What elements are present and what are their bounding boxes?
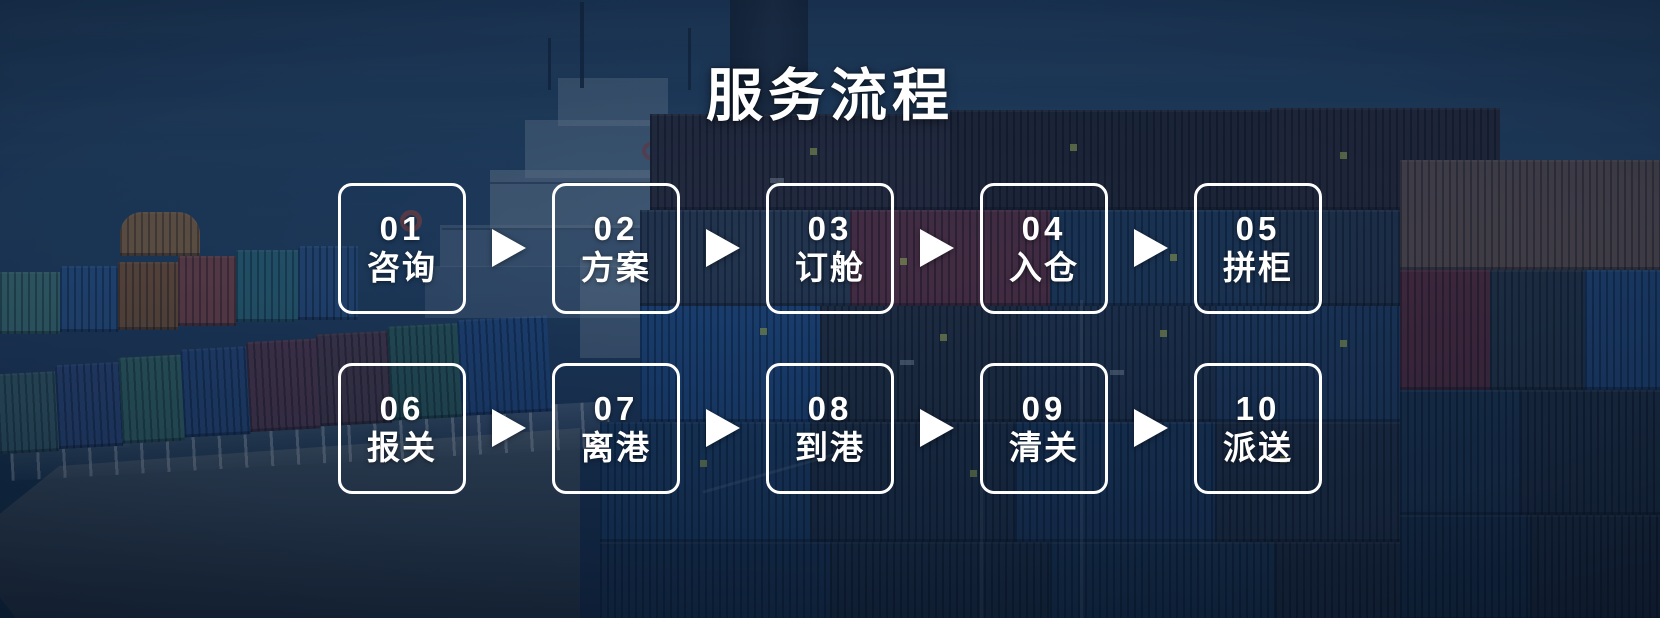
step-label: 派送 [1223, 431, 1293, 464]
step-number: 08 [808, 392, 853, 425]
step-number: 07 [594, 392, 639, 425]
process-flow: 01 咨询 02 方案 03 订舱 04 入仓 [0, 158, 1660, 518]
step-number: 10 [1236, 392, 1281, 425]
process-step-10[interactable]: 10 派送 [1194, 363, 1322, 494]
step-label: 离港 [581, 431, 651, 464]
process-step-09[interactable]: 09 清关 [980, 363, 1108, 494]
step-number: 03 [808, 212, 853, 245]
process-row-2: 06 报关 07 离港 08 到港 09 清关 [0, 338, 1660, 518]
play-triangle-icon [1133, 409, 1169, 447]
process-step-01[interactable]: 01 咨询 [338, 183, 466, 314]
step-number: 05 [1236, 212, 1281, 245]
process-row-1: 01 咨询 02 方案 03 订舱 04 入仓 [0, 158, 1660, 338]
banner-content: 服务流程 01 咨询 02 方案 03 订舱 [0, 0, 1660, 618]
step-label: 拼柜 [1223, 251, 1293, 284]
process-step-04[interactable]: 04 入仓 [980, 183, 1108, 314]
step-label: 咨询 [367, 251, 437, 284]
step-number: 01 [380, 212, 425, 245]
play-triangle-icon [705, 409, 741, 447]
step-number: 04 [1022, 212, 1067, 245]
process-step-05[interactable]: 05 拼柜 [1194, 183, 1322, 314]
step-label: 入仓 [1009, 251, 1079, 284]
play-triangle-icon [919, 409, 955, 447]
step-label: 报关 [367, 431, 437, 464]
step-label: 到港 [795, 431, 865, 464]
step-number: 02 [594, 212, 639, 245]
process-step-06[interactable]: 06 报关 [338, 363, 466, 494]
process-step-02[interactable]: 02 方案 [552, 183, 680, 314]
process-step-07[interactable]: 07 离港 [552, 363, 680, 494]
play-triangle-icon [1133, 229, 1169, 267]
page-title: 服务流程 [0, 68, 1660, 125]
play-triangle-icon [491, 409, 527, 447]
step-number: 06 [380, 392, 425, 425]
step-number: 09 [1022, 392, 1067, 425]
step-label: 清关 [1009, 431, 1079, 464]
step-label: 方案 [581, 251, 651, 284]
play-triangle-icon [705, 229, 741, 267]
process-step-08[interactable]: 08 到港 [766, 363, 894, 494]
play-triangle-icon [491, 229, 527, 267]
process-step-03[interactable]: 03 订舱 [766, 183, 894, 314]
play-triangle-icon [919, 229, 955, 267]
step-label: 订舱 [795, 251, 865, 284]
service-process-banner: 服务流程 01 咨询 02 方案 03 订舱 [0, 0, 1660, 618]
